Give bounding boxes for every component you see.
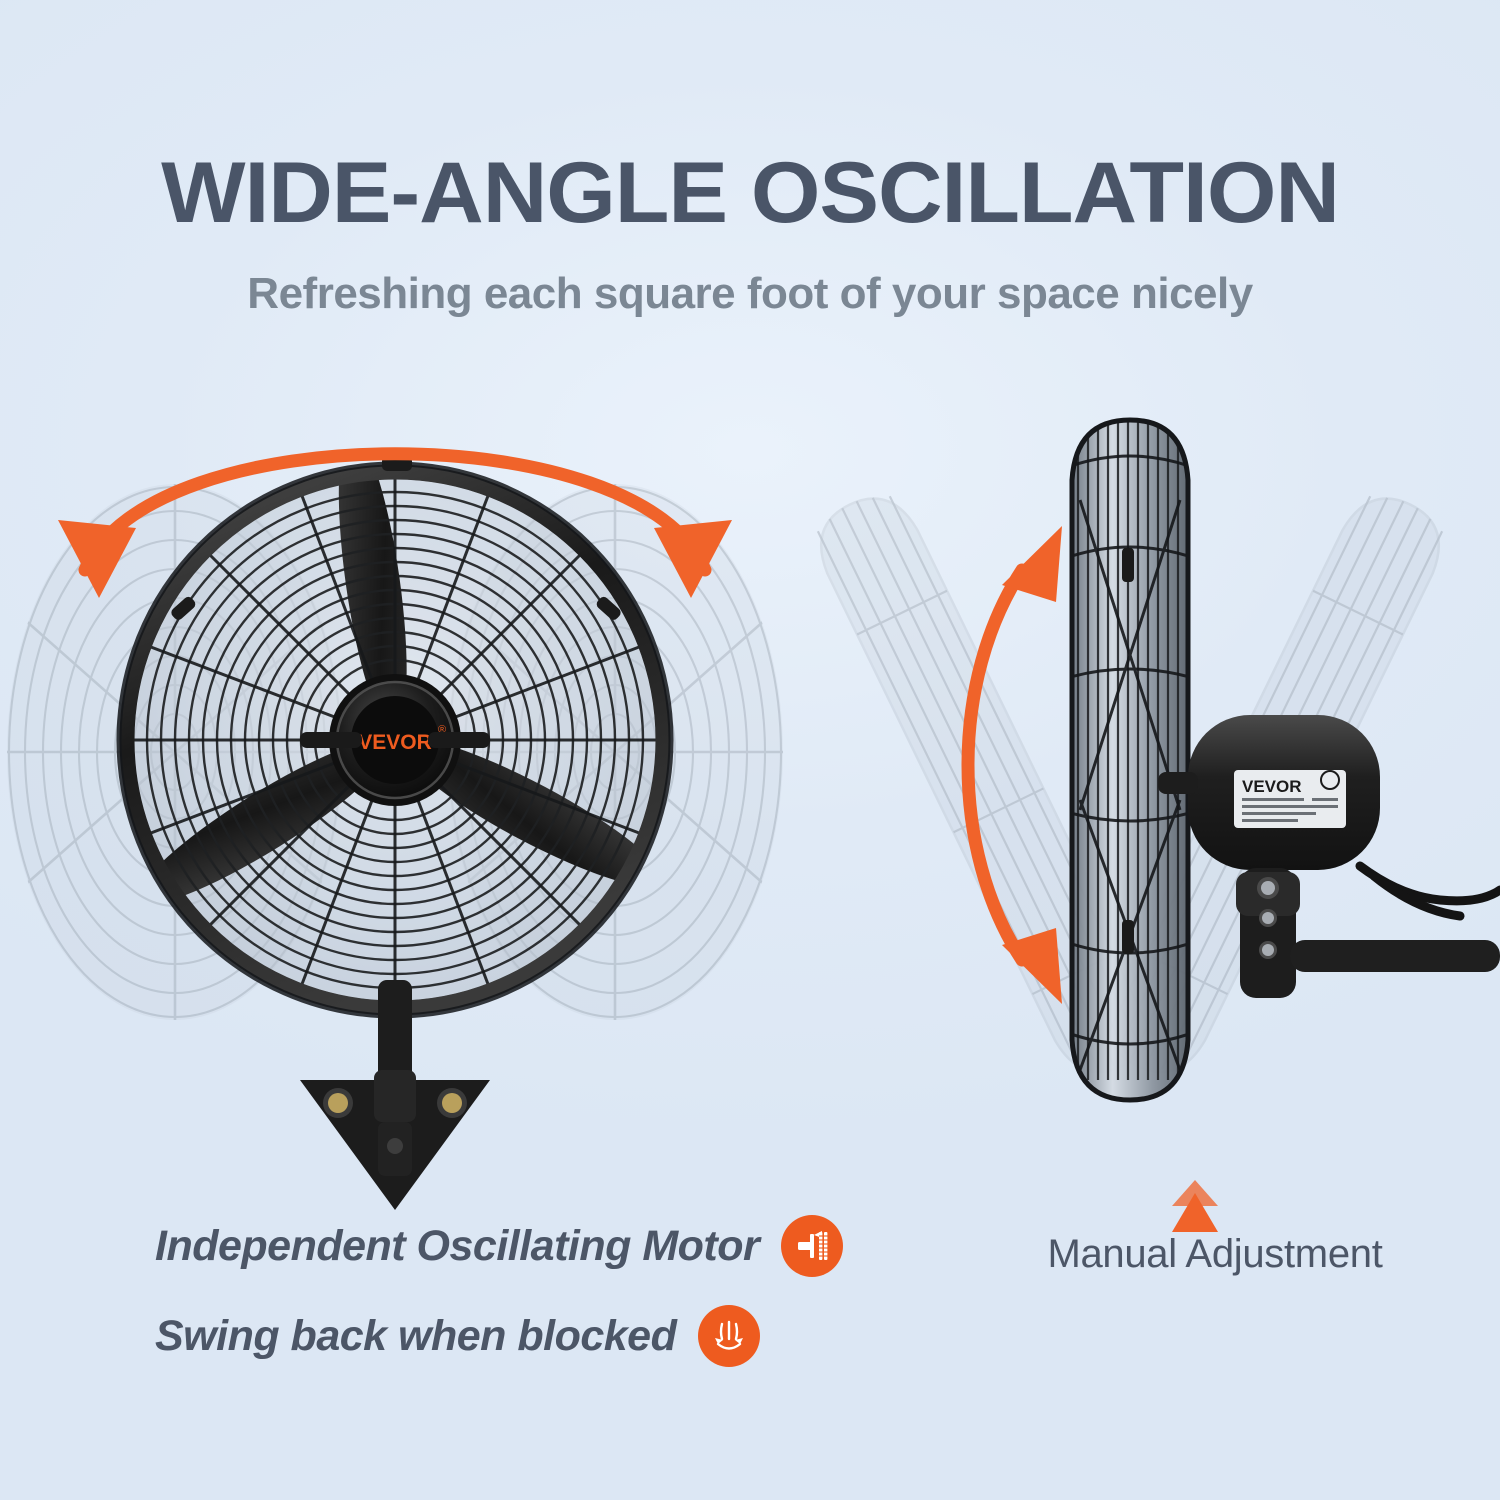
product-feature-graphic: WIDE-ANGLE OSCILLATION Refreshing each s… bbox=[0, 0, 1500, 1500]
caption-text: Swing back when blocked bbox=[155, 1312, 676, 1361]
side-fan-artwork: VEVOR bbox=[930, 380, 1500, 1210]
fan-front-view: VEVOR ® bbox=[119, 429, 676, 1210]
fan-side-profile: VEVOR bbox=[1060, 410, 1500, 1100]
caption-manual-adjustment: Manual Adjustment bbox=[930, 1232, 1500, 1277]
page-subtitle: Refreshing each square foot of your spac… bbox=[0, 272, 1500, 316]
up-arrow-icon bbox=[1172, 1180, 1218, 1232]
left-feature-illustration: VEVOR ® bbox=[0, 380, 790, 1210]
caption-swing-back: Swing back when blocked bbox=[155, 1305, 760, 1367]
motor-label-brand: VEVOR bbox=[1242, 777, 1302, 796]
hub-brand-logo: VEVOR bbox=[358, 731, 432, 754]
right-feature-illustration: VEVOR bbox=[930, 380, 1500, 1210]
caption-oscillating-motor: Independent Oscillating Motor bbox=[155, 1215, 843, 1277]
wall-mount-arm bbox=[1236, 868, 1500, 998]
wall-mount-bracket bbox=[300, 1070, 490, 1210]
oscillating-motor-icon bbox=[781, 1215, 843, 1277]
swing-back-icon bbox=[698, 1305, 760, 1367]
front-fan-artwork: VEVOR ® bbox=[0, 380, 790, 1210]
caption-text: Independent Oscillating Motor bbox=[155, 1222, 759, 1271]
power-cord bbox=[1360, 866, 1500, 916]
page-title: WIDE-ANGLE OSCILLATION bbox=[0, 150, 1500, 236]
